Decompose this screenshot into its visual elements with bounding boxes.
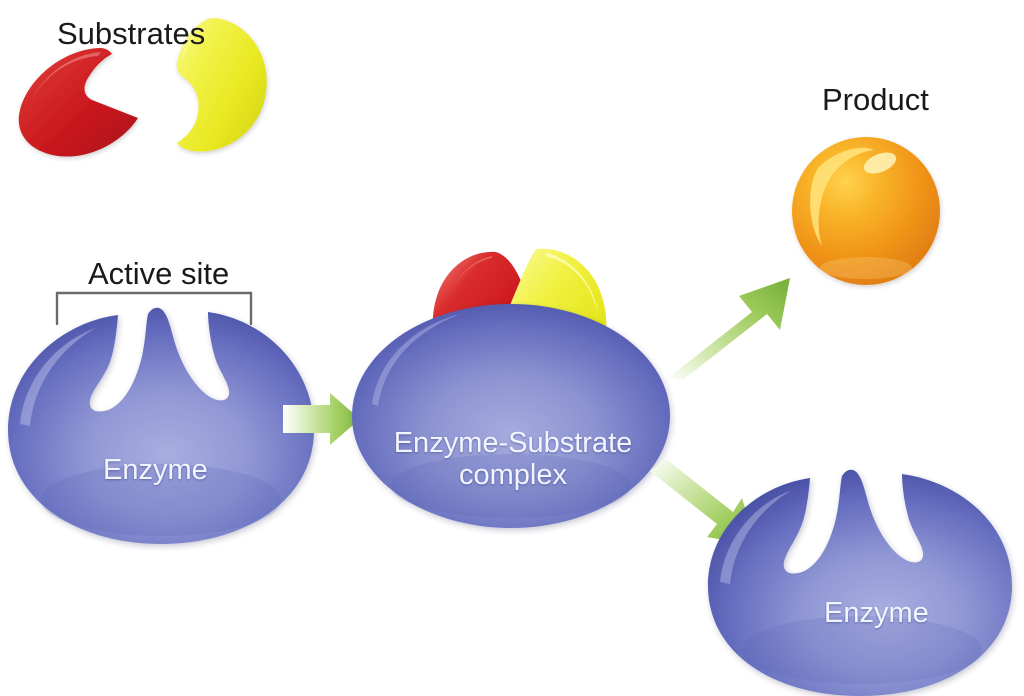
diagram-canvas: Substrates Product Active site Enzyme En…: [0, 0, 1024, 696]
label-enzyme-left: Enzyme: [103, 454, 208, 486]
complex-label-line-1: Enzyme-Substrate: [385, 427, 641, 459]
label-active-site: Active site: [88, 257, 229, 292]
arrow-to-product: [668, 278, 790, 380]
label-enzyme-substrate-complex: Enzyme-Substrate complex: [385, 427, 641, 492]
complex-label-line-2: complex: [385, 459, 641, 491]
label-product: Product: [822, 83, 929, 118]
label-substrates: Substrates: [57, 17, 205, 52]
enzyme-substrate-complex-body: [352, 304, 670, 528]
enzyme-left-shape: [8, 308, 314, 544]
product-sphere: [792, 137, 940, 285]
enzyme-right-shape: [708, 470, 1012, 696]
label-enzyme-right: Enzyme: [824, 597, 929, 629]
substrate-red-free: [19, 48, 138, 157]
